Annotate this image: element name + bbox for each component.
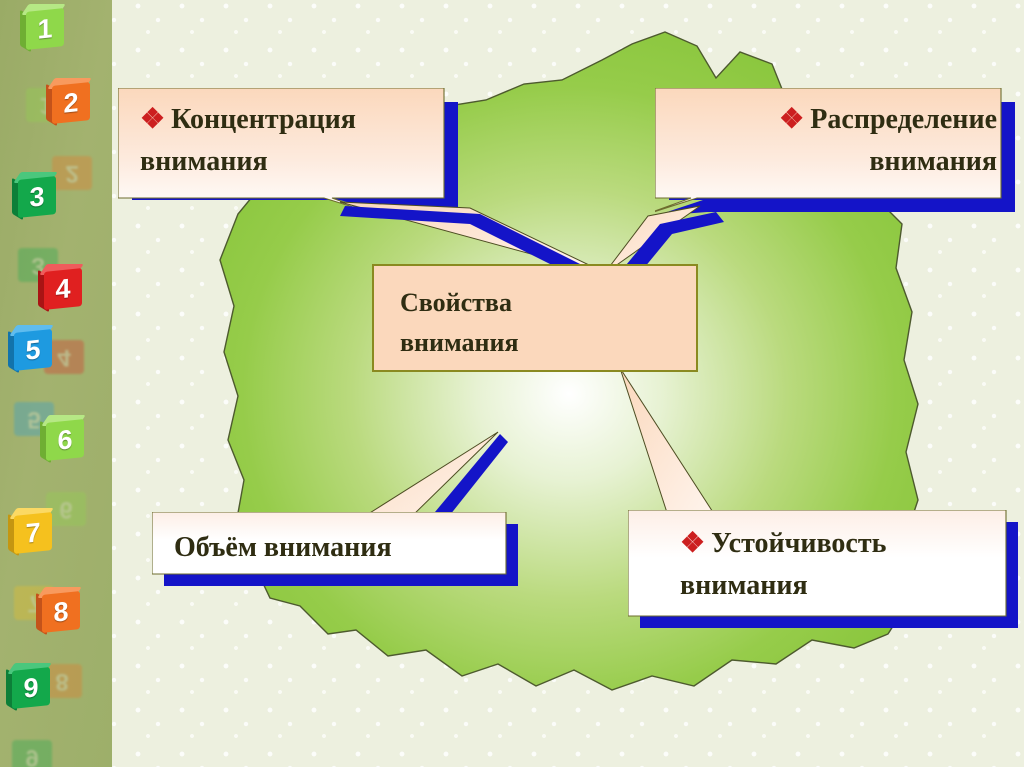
cube-label: 7 (25, 517, 40, 550)
cube-1: 1 (20, 4, 66, 50)
cube-face: 4 (44, 268, 82, 310)
callout-line1: ❖ Устойчивость (680, 526, 886, 563)
cube-reflection-label: 6 (59, 495, 72, 523)
cube-face: 3 (18, 176, 56, 218)
center-node-line1: Свойства (400, 286, 512, 320)
cube-face: 9 (12, 667, 50, 709)
cube-label: 5 (25, 334, 40, 367)
diamond-bullet-icon: ❖ (779, 104, 803, 135)
cube-reflection-label: 5 (27, 405, 40, 433)
callout-ustoychivost[interactable]: ❖ Устойчивость внимания (628, 510, 1018, 632)
cube-label: 9 (23, 672, 38, 705)
cube-label: 2 (63, 87, 78, 120)
cube-label: 3 (29, 181, 44, 214)
cube-label: 6 (57, 424, 72, 457)
callout-line1: ❖ Концентрация (140, 102, 356, 139)
callout-obyom[interactable]: Объём внимания (152, 512, 518, 590)
cube-8: 8 (36, 587, 82, 633)
cube-2: 2 (46, 78, 92, 124)
cube-4: 4 (38, 264, 84, 310)
cube-7: 7 (8, 508, 54, 554)
callout-line2: внимания (869, 144, 997, 181)
slide-root: 112233445566778899 (0, 0, 1024, 767)
sidebar-numbered-cubes: 112233445566778899 (0, 0, 112, 767)
cube-face: 2 (52, 82, 90, 124)
cube-9: 9 (6, 663, 52, 709)
callout-koncentraciya[interactable]: ❖ Концентрация внимания (118, 88, 458, 216)
callout-text: Объём внимания (174, 532, 392, 563)
callout-line2: внимания (680, 568, 808, 605)
cube-3: 3 (12, 172, 58, 218)
cube-face: 7 (14, 512, 52, 554)
callout-line1: ❖ Распределение (779, 102, 997, 139)
cube-reflection-label: 8 (55, 667, 68, 695)
diamond-bullet-icon: ❖ (140, 104, 164, 135)
cube-reflection-label: 9 (25, 743, 38, 767)
cube-reflection-9: 9 (12, 740, 52, 767)
callout-text: Концентрация (171, 104, 356, 135)
cube-reflection-label: 2 (65, 159, 78, 187)
callout-line1: Объём внимания (174, 530, 392, 567)
center-node-line2: внимания (400, 326, 519, 360)
center-node-svoystva-vnimaniya[interactable]: Свойства внимания (372, 264, 698, 372)
cube-5: 5 (8, 325, 54, 371)
diamond-bullet-icon: ❖ (680, 528, 704, 559)
cube-reflection-2: 2 (52, 156, 92, 190)
cube-label: 4 (55, 273, 70, 306)
cube-face: 6 (46, 419, 84, 461)
cube-face: 5 (14, 329, 52, 371)
cube-6: 6 (40, 415, 86, 461)
cube-label: 1 (37, 13, 52, 46)
callout-text: Распределение (810, 104, 997, 135)
cube-label: 8 (53, 596, 68, 629)
callout-text: Устойчивость (711, 528, 886, 559)
callout-raspredelenie[interactable]: ❖ Распределение внимания (655, 88, 1015, 216)
cube-face: 1 (26, 8, 64, 50)
cube-reflection-label: 4 (57, 343, 70, 371)
callout-line2: внимания (140, 144, 268, 181)
cube-face: 8 (42, 591, 80, 633)
